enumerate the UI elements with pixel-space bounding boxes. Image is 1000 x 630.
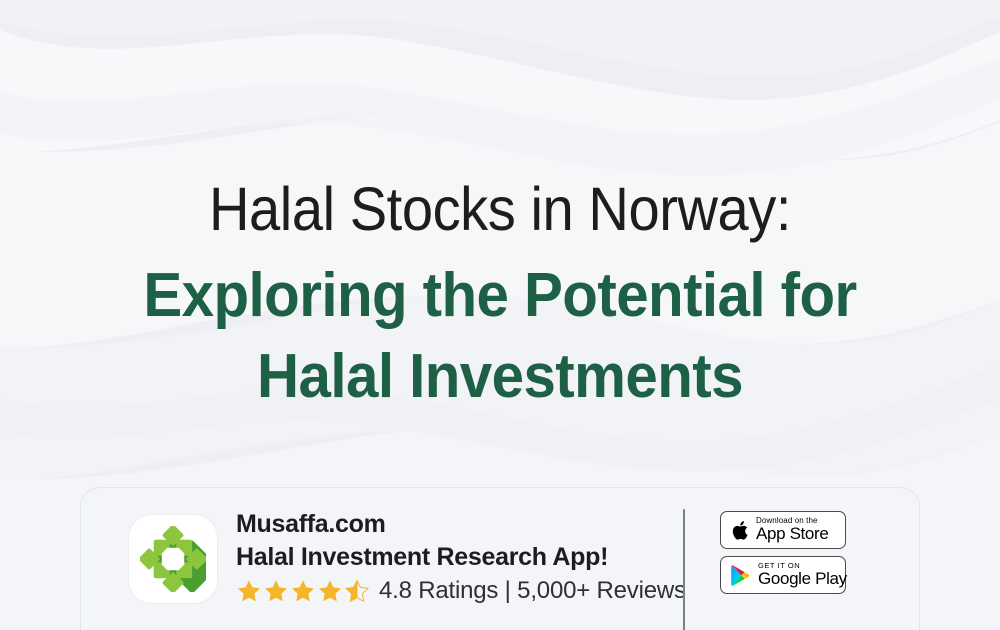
page-title: Halal Stocks in Norway: Exploring the Po…	[0, 178, 1000, 417]
title-line-accent-1: Exploring the Potential for	[30, 256, 970, 337]
star-icon-full-2	[263, 578, 289, 604]
google-play-badge-large-text: Google Play	[758, 570, 847, 588]
star-icon-half-5	[344, 578, 370, 604]
rating-summary-text: 4.8 Ratings | 5,000+ Reviews	[379, 577, 686, 605]
poster-canvas: Halal Stocks in Norway: Exploring the Po…	[0, 0, 1000, 630]
promo-text-block: Musaffa.com Halal Investment Research Ap…	[236, 508, 736, 605]
app-store-badge-copy: Download on the App Store	[756, 517, 828, 544]
star-icon-full-4	[317, 578, 343, 604]
store-badges-group: Download on the App Store	[720, 511, 846, 594]
google-play-badge[interactable]: GET IT ON Google Play	[720, 556, 846, 594]
rating-row: 4.8 Ratings | 5,000+ Reviews	[236, 577, 736, 605]
google-play-icon	[730, 564, 751, 587]
app-icon-tile	[128, 514, 218, 604]
star-icon-full-1	[236, 578, 262, 604]
title-line-accent-2: Halal Investments	[30, 337, 970, 418]
apple-icon	[730, 519, 749, 542]
brand-name: Musaffa.com	[236, 508, 736, 541]
star-rating	[236, 578, 370, 604]
musaffa-rosette-logo-icon	[140, 526, 206, 592]
card-divider	[683, 509, 685, 630]
app-store-badge[interactable]: Download on the App Store	[720, 511, 846, 549]
star-icon-full-3	[290, 578, 316, 604]
brand-tagline: Halal Investment Research App!	[236, 541, 736, 574]
app-store-badge-large-text: App Store	[756, 525, 828, 543]
app-promo-card: Musaffa.com Halal Investment Research Ap…	[80, 487, 920, 630]
google-play-badge-copy: GET IT ON Google Play	[758, 562, 847, 588]
title-line-primary: Halal Stocks in Norway:	[40, 178, 960, 240]
